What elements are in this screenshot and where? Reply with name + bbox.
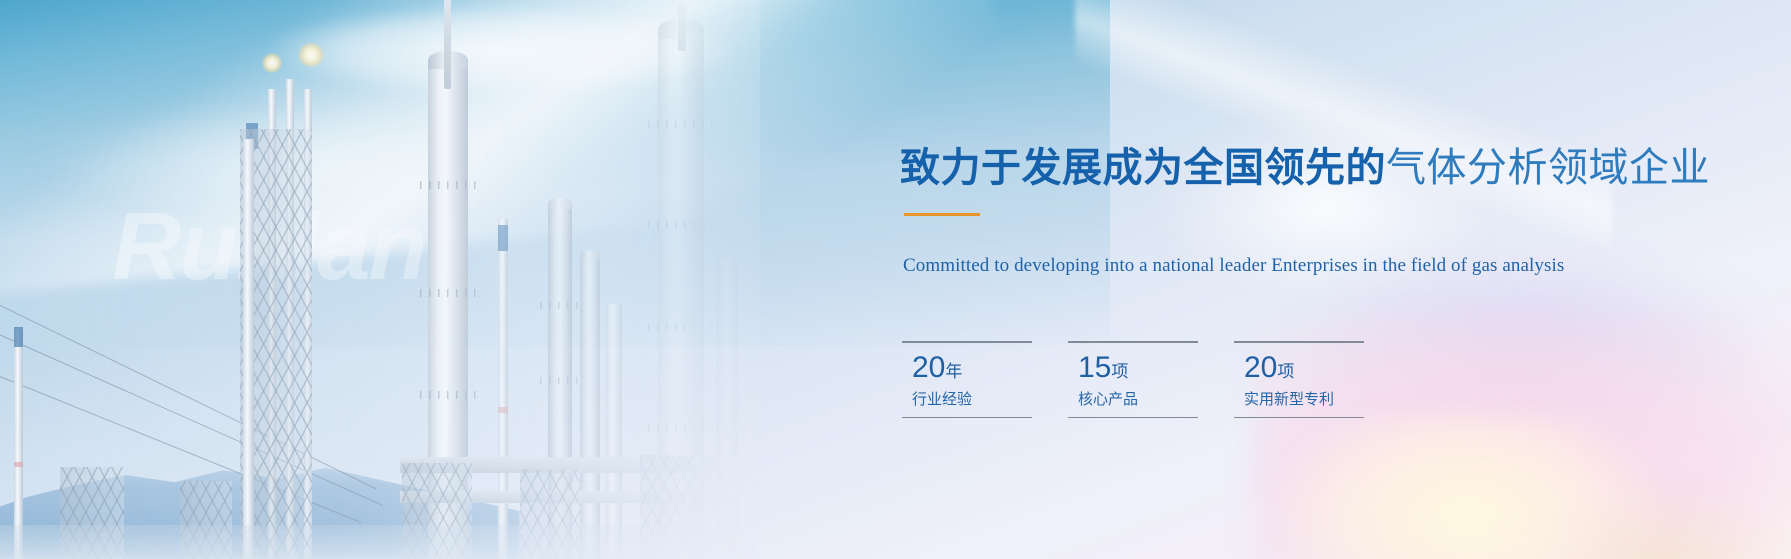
subtitle: Committed to developing into a national … bbox=[903, 255, 1564, 277]
stat-item-products: 15项 核心产品 bbox=[1068, 341, 1198, 418]
stat-unit: 项 bbox=[1277, 362, 1294, 381]
stat-rule-top bbox=[1234, 341, 1364, 343]
stat-number: 20项 bbox=[1244, 352, 1364, 384]
stat-value: 20 bbox=[912, 351, 945, 384]
stat-item-patents: 20项 实用新型专利 bbox=[1234, 341, 1364, 418]
stat-rule-top bbox=[1068, 341, 1198, 343]
stat-rule-bottom bbox=[902, 417, 1032, 419]
stats-group: 20年 行业经验 15项 核心产品 20项 实用新型专利 bbox=[902, 341, 1364, 418]
cream-cloud-secondary bbox=[1540, 481, 1791, 559]
stat-unit: 项 bbox=[1111, 362, 1128, 381]
stat-rule-bottom bbox=[1068, 417, 1198, 419]
stat-number: 20年 bbox=[912, 352, 1032, 384]
headline-strong: 致力于发展成为全国领先的 bbox=[900, 146, 1386, 190]
stat-item-years: 20年 行业经验 bbox=[902, 341, 1032, 418]
hero-content: 致力于发展成为全国领先的气体分析领域企业 Committed to develo… bbox=[900, 0, 1540, 559]
stat-value: 15 bbox=[1078, 351, 1111, 384]
stat-number: 15项 bbox=[1078, 352, 1198, 384]
stat-rule-top bbox=[902, 341, 1032, 343]
stat-label: 行业经验 bbox=[912, 388, 1032, 409]
hero-banner: Runlan bbox=[0, 0, 1791, 559]
stat-value: 20 bbox=[1244, 351, 1277, 384]
accent-divider bbox=[904, 213, 980, 216]
photo-haze-overlay bbox=[0, 0, 760, 559]
refinery-photo bbox=[0, 0, 760, 559]
stat-rule-bottom bbox=[1234, 417, 1364, 419]
stat-unit: 年 bbox=[945, 362, 962, 381]
headline-light: 气体分析领域企业 bbox=[1386, 146, 1710, 190]
stat-label: 核心产品 bbox=[1078, 388, 1198, 409]
page-title: 致力于发展成为全国领先的气体分析领域企业 bbox=[900, 148, 1710, 188]
stat-label: 实用新型专利 bbox=[1244, 388, 1364, 409]
